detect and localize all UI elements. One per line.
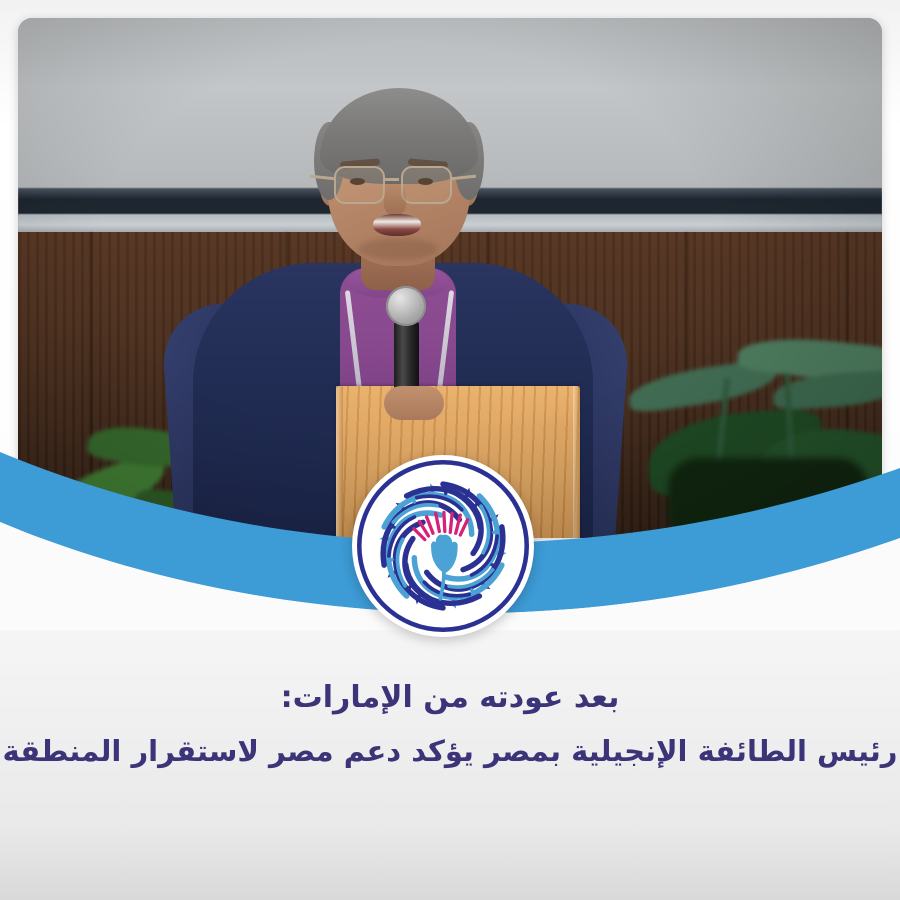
news-card: بعد عودته من الإمارات: رئيس الطائفة الإن…: [0, 0, 900, 900]
podium-edge-left: [336, 386, 343, 538]
podium-edge-right: [573, 386, 580, 538]
logo-emblem: [352, 455, 534, 637]
eyeglasses-bridge: [383, 178, 399, 181]
mouth-open: [373, 214, 421, 236]
hand-holding-microphone: [384, 386, 444, 420]
chin-shadow: [358, 238, 438, 260]
headline-line-2: رئيس الطائفة الإنجيلية بمصر يؤكد دعم مصر…: [0, 730, 900, 772]
eyeglasses-lens-right: [401, 166, 452, 204]
nose: [384, 186, 406, 216]
eyeglasses-lens-left: [334, 166, 385, 204]
headline-line-1: بعد عودته من الإمارات:: [0, 676, 900, 720]
plant-right: [608, 318, 882, 538]
microphone-head: [386, 286, 426, 326]
headline-block: بعد عودته من الإمارات: رئيس الطائفة الإن…: [0, 676, 900, 772]
evangelical-church-egypt-logo: [352, 455, 534, 637]
